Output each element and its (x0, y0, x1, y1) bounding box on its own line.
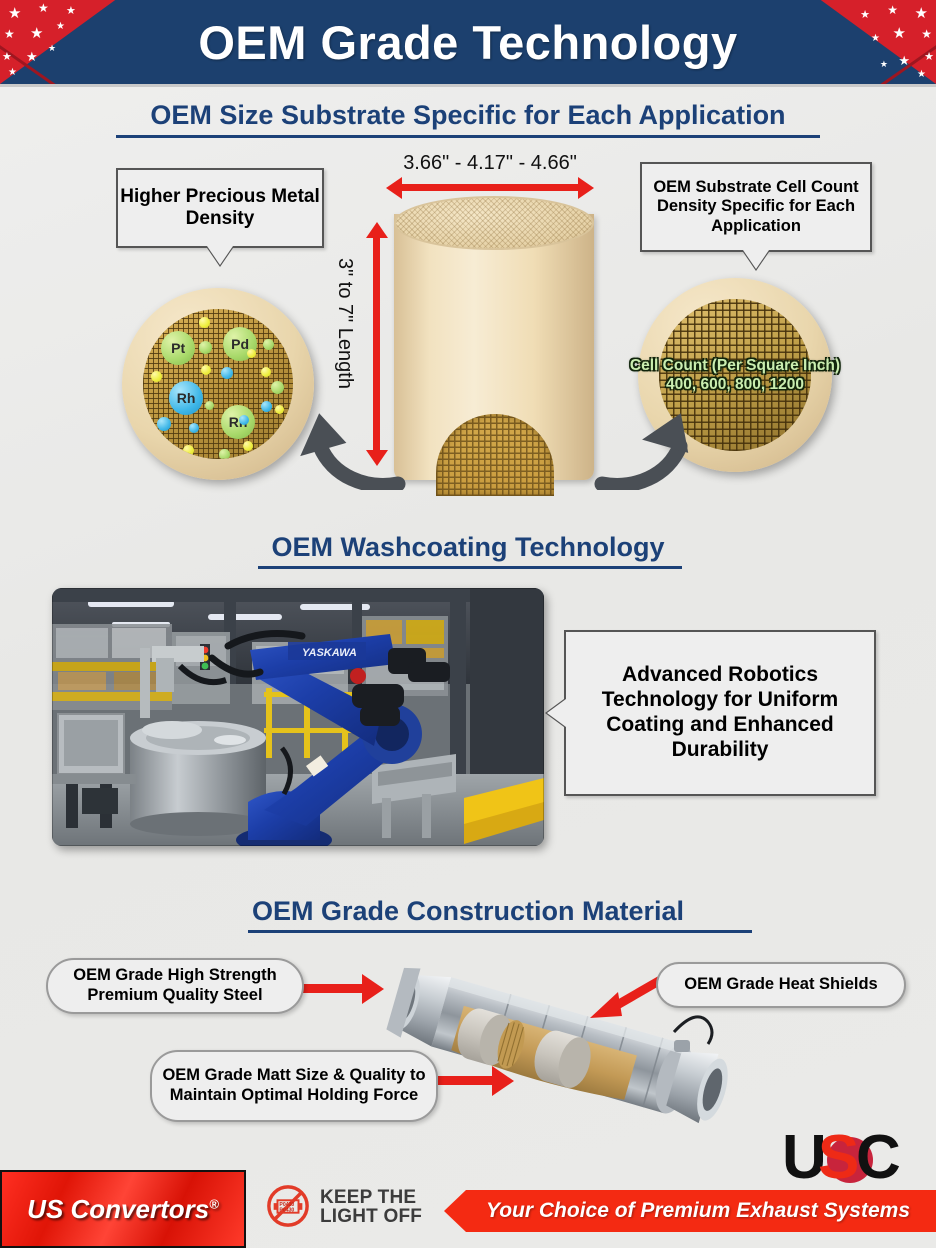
dimension-label-length: 3" to 7" Length (326, 258, 356, 389)
usc-monogram-logo: U S C (784, 1120, 914, 1186)
callout-text: OEM Substrate Cell Count Density Specifi… (650, 178, 862, 236)
cylinder-top-honeycomb (394, 196, 594, 250)
section-rule-substrate (116, 135, 820, 138)
callout-tail-icon (207, 246, 233, 265)
callout-text: Higher Precious Metal Density (118, 186, 322, 231)
callout-higher-precious-metal-density: Higher Precious Metal Density (116, 168, 324, 248)
dimension-label-diameter: 3.66" - 4.17" - 4.66" (380, 152, 600, 175)
metal-bubble-pt: Pt (161, 331, 195, 365)
page-header: ★ ★ ★ ★ ★ ★ ★ ★ ★ ★ ★ ★ ★ ★ ★ ★ ★ ★ ★ ★ … (0, 0, 936, 84)
registered-mark: ® (209, 1196, 219, 1211)
pill-text: OEM Grade High Strength Premium Quality … (48, 966, 302, 1006)
page-footer: US Convertors® P0420 P0430 KEEP THE LIGH… (0, 1166, 936, 1248)
curved-arrow-right-icon (594, 398, 714, 490)
callout-oem-substrate-cell-count: OEM Substrate Cell Count Density Specifi… (640, 162, 872, 252)
header-divider (0, 84, 936, 87)
substrate-cylinder-graphic (394, 196, 594, 496)
section-heading-washcoating: OEM Washcoating Technology (0, 532, 936, 563)
metal-bubble-rh-blue: Rh (169, 381, 203, 415)
pill-text: OEM Grade Matt Size & Quality to Maintai… (160, 1066, 428, 1106)
keep-light-off-label: KEEP THE LIGHT OFF (320, 1188, 422, 1227)
pill-text: OEM Grade Heat Shields (684, 975, 877, 995)
pill-heat-shields: OEM Grade Heat Shields (656, 962, 906, 1008)
cell-count-annotation: Cell Count (Per Square Inch) 400, 600, 8… (608, 356, 862, 395)
callout-advanced-robotics: Advanced Robotics Technology for Uniform… (564, 630, 876, 796)
tagline-text: Your Choice of Premium Exhaust Systems (470, 1199, 910, 1223)
keep-line-1: KEEP THE (320, 1188, 422, 1207)
section-heading-substrate: OEM Size Substrate Specific for Each App… (0, 100, 936, 131)
svg-text:S: S (818, 1123, 859, 1186)
us-convertors-logo: US Convertors® (0, 1170, 246, 1248)
callout-text: Advanced Robotics Technology for Uniform… (576, 663, 864, 762)
section-heading-construction: OEM Grade Construction Material (0, 896, 936, 927)
brand-name: US Convertors (27, 1194, 209, 1224)
callout-tail-icon (743, 250, 769, 269)
callout-tail-icon (547, 699, 566, 727)
tagline-banner: Your Choice of Premium Exhaust Systems (444, 1190, 936, 1232)
cell-count-values: 400, 600, 800, 1200 (608, 375, 862, 394)
disc-inner-mesh: Pt Pd Rh Rh (143, 309, 293, 459)
keep-line-2: LIGHT OFF (320, 1207, 422, 1226)
robot-brand-label: YASKAWA (302, 647, 357, 659)
no-symbol-icon: P0420 P0430 (266, 1184, 310, 1228)
infographic-page: ★ ★ ★ ★ ★ ★ ★ ★ ★ ★ ★ ★ ★ ★ ★ ★ ★ ★ ★ ★ … (0, 0, 936, 1248)
pill-matt-size-quality: OEM Grade Matt Size & Quality to Maintai… (150, 1050, 438, 1122)
section-rule-construction (248, 930, 752, 933)
dtc-code-2: P0430 (279, 1208, 294, 1214)
cell-count-title: Cell Count (Per Square Inch) (608, 356, 862, 375)
page-title: OEM Grade Technology (0, 0, 936, 84)
svg-text:C: C (856, 1123, 901, 1186)
section-rule-washcoating (258, 566, 682, 569)
curved-arrow-left-icon (286, 398, 406, 490)
metal-bubble-rh-green: Rh (221, 405, 255, 439)
pill-high-strength-steel: OEM Grade High Strength Premium Quality … (46, 958, 304, 1014)
washcoating-robot-photo: YASKAWA (52, 588, 544, 846)
keep-the-light-off-badge: P0420 P0430 KEEP THE LIGHT OFF (266, 1184, 422, 1230)
